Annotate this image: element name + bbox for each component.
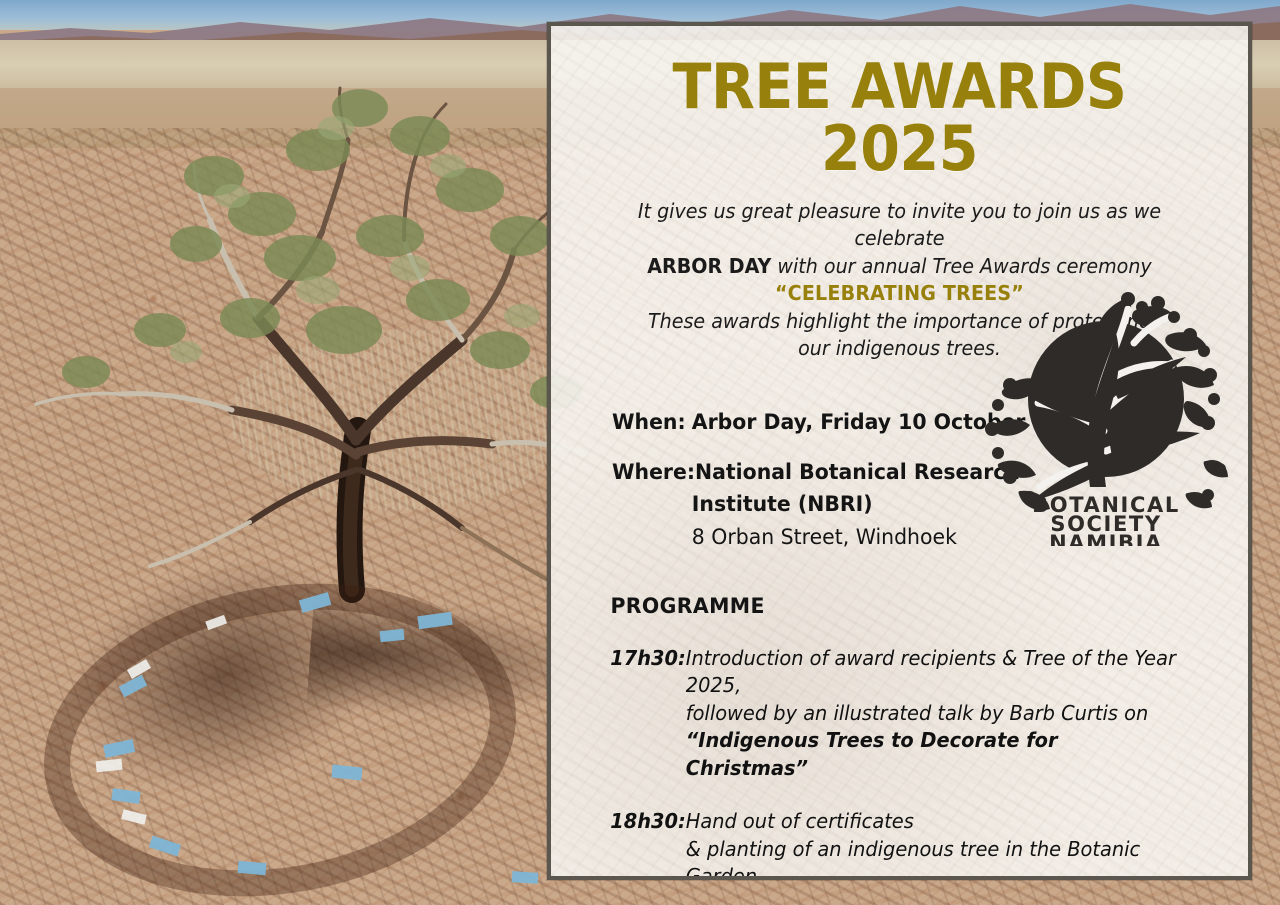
programme-item-line-1: Hand out of certificates [686,808,1183,835]
page-title: TREE AWARDS 2025 [606,26,1192,180]
where-value-line-1: National Botanical Research [695,460,1020,485]
programme-item-description: Hand out of certificates & planting of a… [686,808,1183,880]
programme-item-line-3: “Indigenous Trees to Decorate for Christ… [686,727,1183,782]
programme-item: 18h30: Hand out of certificates & planti… [581,808,1183,880]
programme-item-line-2: & planting of an indigenous tree in the … [686,836,1183,880]
programme-item: 17h30: Introduction of award recipients … [581,645,1183,782]
botanical-society-namibia-logo: BOTANICAL SOCIETY NAMIBIA [982,281,1230,546]
invitation-card: BOTANICAL SOCIETY NAMIBIA TREE AWARDS 20… [547,22,1252,880]
arbor-day-emphasis: ARBOR DAY [647,254,771,278]
when-label: When: [612,407,692,439]
programme-heading: PROGRAMME [581,594,1186,619]
logo-line-3: NAMIBIA [1049,531,1163,546]
programme-item-description: Introduction of award recipients & Tree … [686,645,1183,782]
intro-line-2: ARBOR DAY with our annual Tree Awards ce… [603,253,1195,280]
logo-artwork: BOTANICAL SOCIETY NAMIBIA [982,281,1230,546]
programme-item-time: 17h30: [610,645,685,672]
invitation-poster: BOTANICAL SOCIETY NAMIBIA TREE AWARDS 20… [0,0,1280,905]
programme-item-time: 18h30: [610,808,685,835]
where-label: Where: [612,457,695,489]
programme-item-line-1: Introduction of award recipients & Tree … [686,645,1183,700]
programme-item-line-2: followed by an illustrated talk by Barb … [686,700,1183,727]
intro-line-2-rest: with our annual Tree Awards ceremony [771,254,1151,278]
intro-line-1: It gives us great pleasure to invite you… [603,198,1195,253]
